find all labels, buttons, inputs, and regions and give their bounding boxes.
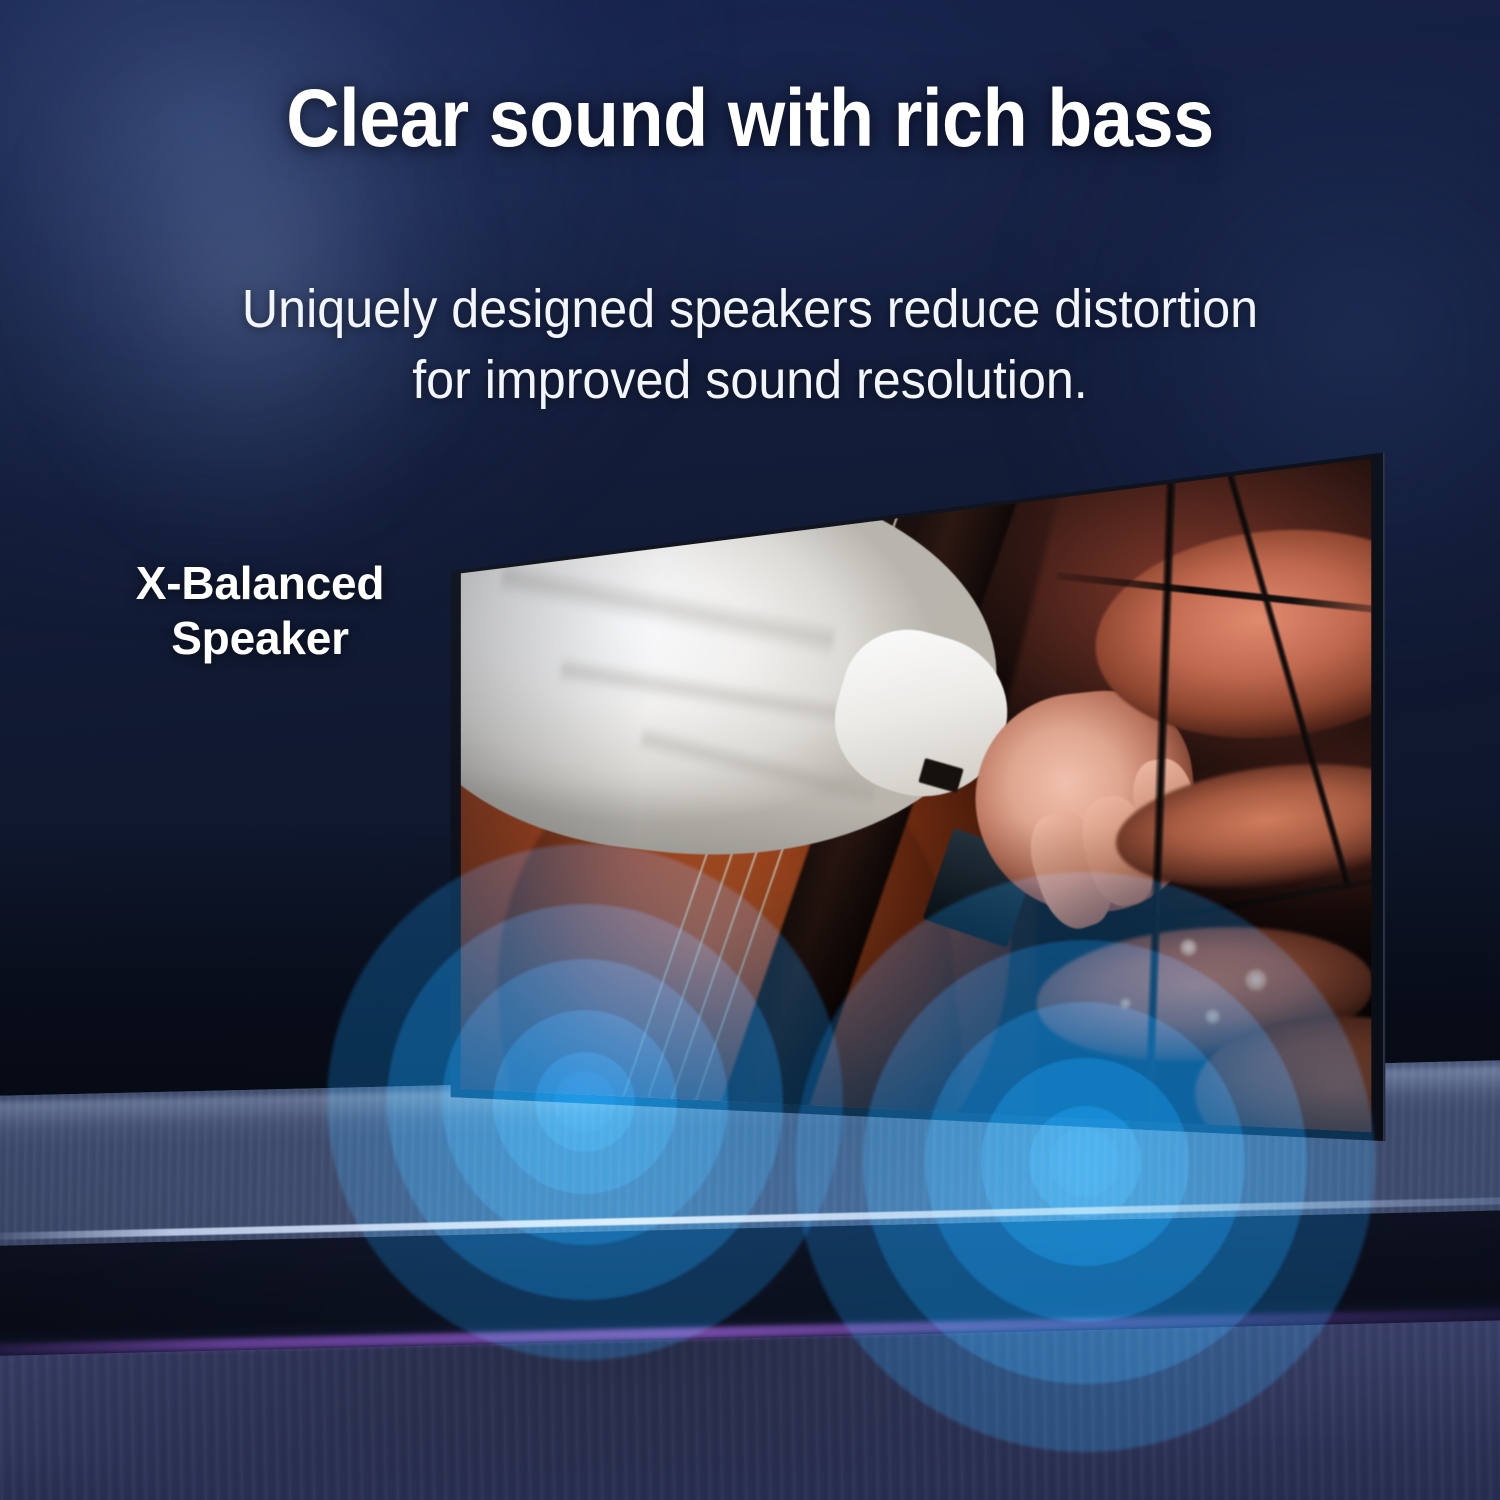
screen-scene [456,456,1376,1137]
subtitle-line-1: Uniquely designed speakers reduce distor… [53,274,1448,345]
stage-light-bokeh [1245,969,1267,991]
page-title: Clear sound with rich bass [75,76,1425,161]
feature-callout-label: X-Balanced Speaker [92,556,428,666]
feature-label-line-2: Speaker [92,611,428,666]
feature-label-line-1: X-Balanced [92,556,428,611]
tv-screen [456,456,1376,1137]
page-subtitle: Uniquely designed speakers reduce distor… [53,274,1448,417]
stage-light-bokeh [1205,1009,1220,1024]
subtitle-line-2: for improved sound resolution. [53,345,1448,416]
promotional-banner: Clear sound with rich bass Uniquely desi… [0,0,1500,1500]
